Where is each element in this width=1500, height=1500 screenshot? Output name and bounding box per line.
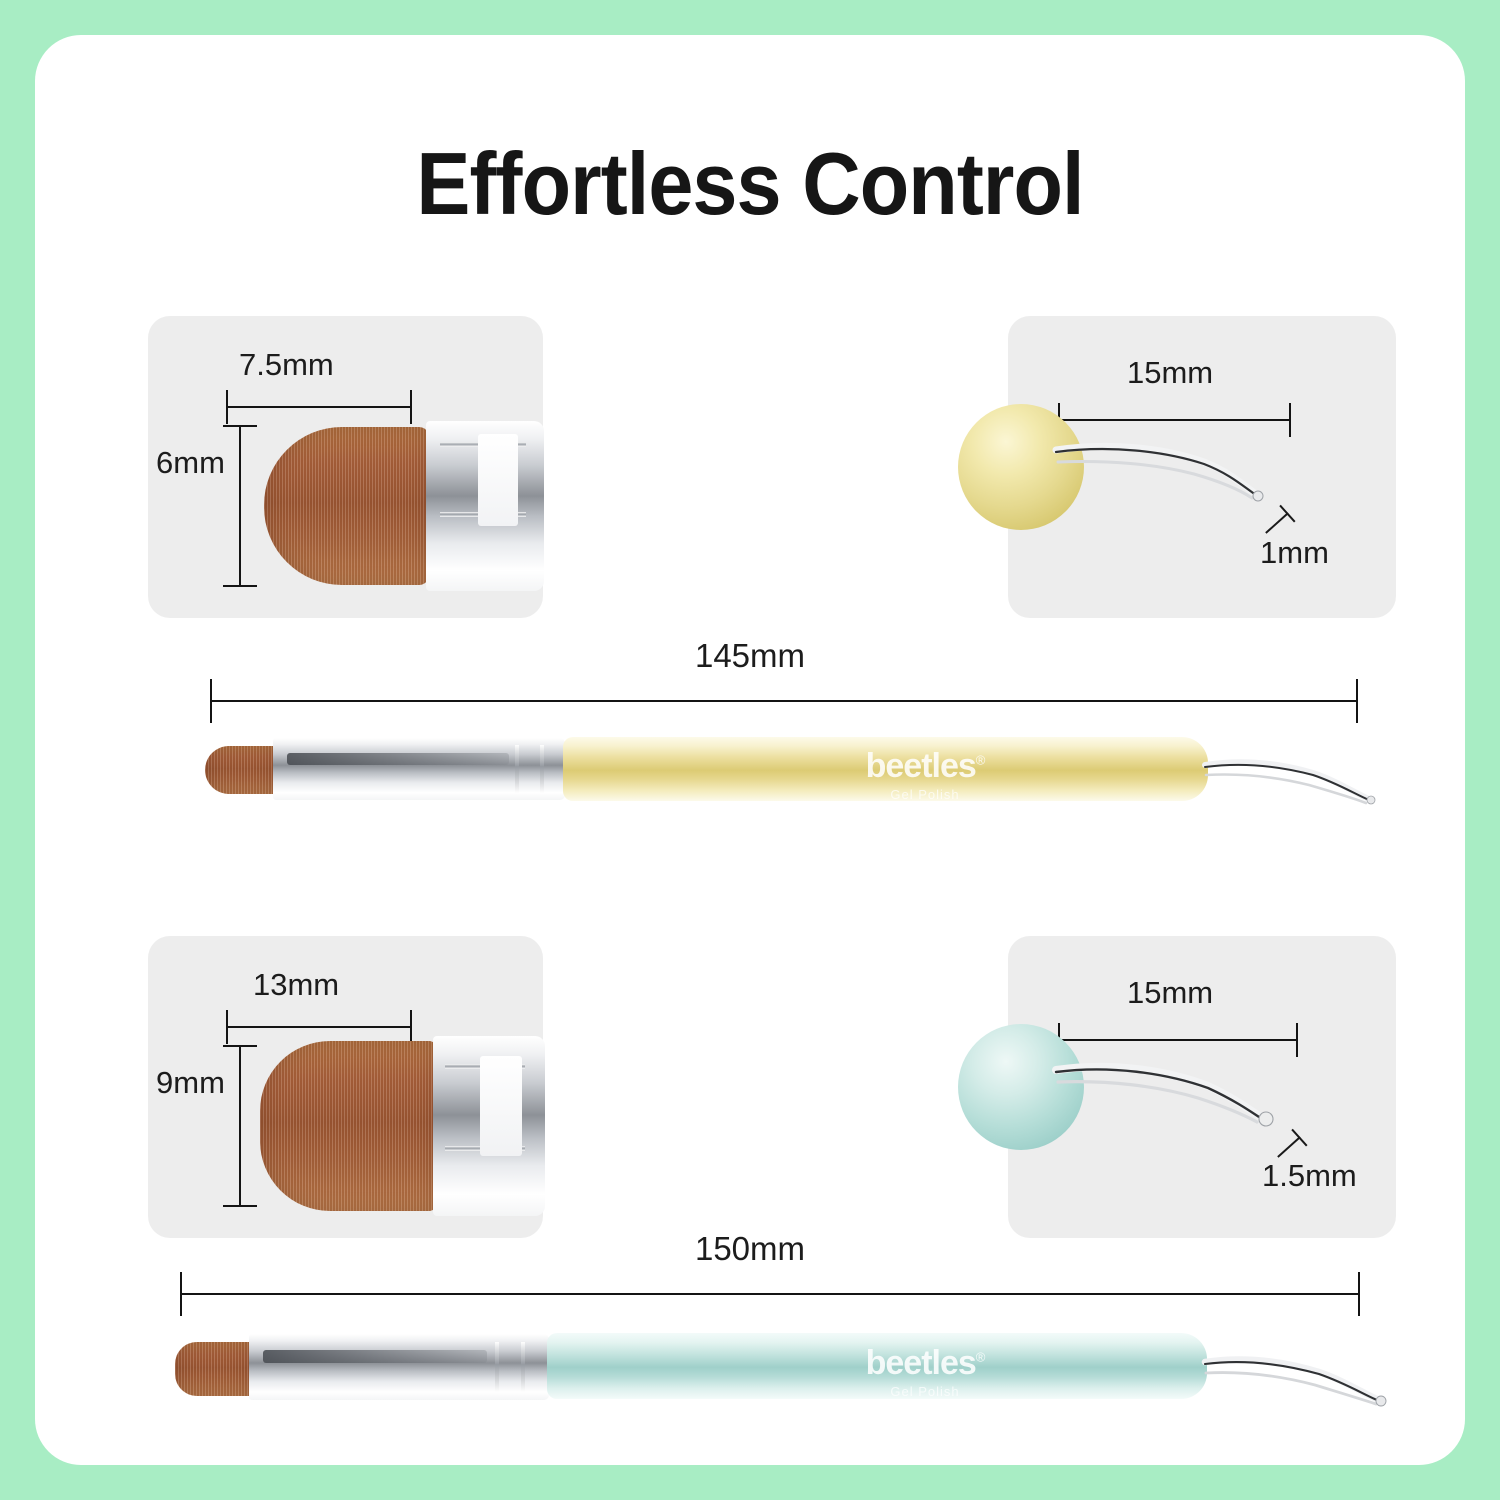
tool-ferrule-ring-a-top bbox=[515, 745, 519, 793]
brush-width-dimension-line-bottom bbox=[226, 1026, 412, 1028]
tool-ferrule-ring-b-top bbox=[540, 745, 544, 793]
ferrule-highlight-bottom bbox=[480, 1056, 522, 1156]
tool-ferrule-ring-a-bottom bbox=[495, 1342, 499, 1392]
dotting-needle-top bbox=[1052, 428, 1302, 518]
dotting-length-dimension-line-top bbox=[1058, 419, 1291, 421]
tool-bristles-bottom bbox=[175, 1342, 253, 1396]
panel-dotting-tip-bottom: 15mm 1.5mm bbox=[1008, 936, 1396, 1238]
ferrule-highlight-top bbox=[478, 434, 518, 526]
panel-dotting-tip-top: 15mm 1mm bbox=[1008, 316, 1396, 618]
tool-ferrule-bottom bbox=[249, 1334, 549, 1400]
total-length-dimension-line-top bbox=[210, 700, 1358, 702]
brush-height-label-bottom: 9mm bbox=[156, 1065, 225, 1101]
tool-handle-bottom bbox=[547, 1333, 1207, 1399]
brush-width-label-bottom: 13mm bbox=[253, 967, 339, 1003]
dotting-tip-label-top: 1mm bbox=[1260, 535, 1329, 571]
tool-handle-top bbox=[563, 737, 1208, 801]
dotting-tip-marker-bottom bbox=[1277, 1136, 1301, 1158]
dotting-needle-bottom bbox=[1052, 1048, 1312, 1138]
tool-dotting-needle-bottom bbox=[1203, 1340, 1403, 1404]
tool-dotting-needle-top bbox=[1203, 743, 1393, 805]
product-mint-brush-tool: beetles® Gel Polish bbox=[35, 1320, 1465, 1415]
tool-bristles-top bbox=[205, 746, 277, 794]
dotting-tip-label-bottom: 1.5mm bbox=[1262, 1158, 1357, 1194]
infographic-page: Effortless Control 7.5mm 6mm 15mm bbox=[0, 0, 1500, 1500]
tool-ferrule-shadow-top bbox=[287, 753, 509, 765]
panel-brush-head-bottom: 13mm 9mm bbox=[148, 936, 543, 1238]
product-yellow-brush-tool: beetles® Gel Polish bbox=[35, 725, 1465, 815]
brush-bristles-top bbox=[264, 427, 429, 585]
brush-width-label-top: 7.5mm bbox=[239, 347, 334, 383]
total-length-label-bottom: 150mm bbox=[35, 1230, 1465, 1268]
dotting-length-label-top: 15mm bbox=[1127, 355, 1213, 391]
total-length-label-top: 145mm bbox=[35, 637, 1465, 675]
brush-width-dimension-line-top bbox=[226, 406, 412, 408]
content-card: Effortless Control 7.5mm 6mm 15mm bbox=[35, 35, 1465, 1465]
brush-bristles-bottom bbox=[260, 1041, 437, 1211]
total-length-dimension-line-bottom bbox=[180, 1293, 1360, 1295]
dotting-length-dimension-line-bottom bbox=[1058, 1039, 1298, 1041]
tool-ferrule-top bbox=[273, 738, 565, 800]
brush-height-dimension-line-bottom bbox=[239, 1045, 241, 1207]
brush-height-dimension-line-top bbox=[239, 425, 241, 587]
tool-ferrule-shadow-bottom bbox=[263, 1350, 487, 1363]
page-title: Effortless Control bbox=[92, 133, 1408, 235]
brush-height-label-top: 6mm bbox=[156, 445, 225, 481]
panel-brush-head-top: 7.5mm 6mm bbox=[148, 316, 543, 618]
tool-ferrule-ring-b-bottom bbox=[521, 1342, 525, 1392]
dotting-length-label-bottom: 15mm bbox=[1127, 975, 1213, 1011]
